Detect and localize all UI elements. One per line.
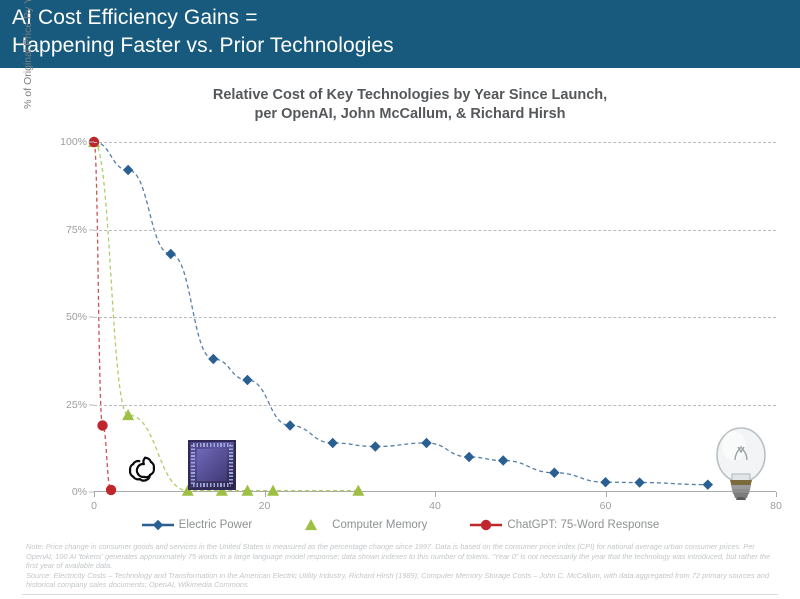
data-point-marker bbox=[549, 468, 559, 478]
legend-marker-circle-icon bbox=[469, 518, 503, 532]
gridline bbox=[94, 230, 776, 231]
data-point-marker bbox=[352, 485, 364, 496]
legend-marker-triangle-icon bbox=[294, 518, 328, 532]
data-point-marker bbox=[481, 520, 491, 530]
data-point-marker bbox=[328, 438, 338, 448]
data-point-marker bbox=[267, 485, 279, 496]
chart-legend: Electric PowerComputer MemoryChatGPT: 75… bbox=[0, 518, 800, 532]
x-axis-tick-mark bbox=[435, 492, 436, 497]
light-bulb-image bbox=[708, 424, 774, 500]
computer-memory-chip-image bbox=[188, 440, 236, 490]
legend-item[interactable]: Computer Memory bbox=[294, 518, 427, 532]
x-axis-tick-mark bbox=[265, 492, 266, 497]
chip-die bbox=[197, 449, 227, 481]
data-point-marker bbox=[634, 477, 644, 487]
data-point-marker bbox=[208, 354, 218, 364]
y-axis-tick-label: 50% bbox=[48, 311, 94, 323]
legend-marker-diamond-icon bbox=[141, 518, 175, 532]
x-axis-tick-mark bbox=[94, 492, 95, 497]
y-axis-tick-label: 0% bbox=[48, 486, 94, 498]
x-axis-tick-label: 40 bbox=[429, 500, 441, 512]
data-point-marker bbox=[305, 519, 317, 530]
slide-root: AI Cost Efficiency Gains = Happening Fas… bbox=[0, 0, 800, 599]
data-point-marker bbox=[370, 441, 380, 451]
x-axis-tick-label: 0 bbox=[91, 500, 97, 512]
data-point-marker bbox=[122, 409, 134, 420]
x-axis-tick-label: 80 bbox=[770, 500, 782, 512]
legend-label: ChatGPT: 75-Word Response bbox=[507, 519, 659, 531]
data-point-marker bbox=[464, 452, 474, 462]
openai-logo-icon bbox=[125, 452, 159, 486]
chart-title: Relative Cost of Key Technologies by Yea… bbox=[60, 86, 760, 124]
data-point-marker bbox=[285, 420, 295, 430]
y-axis-tick-mark bbox=[89, 404, 94, 405]
data-point-marker bbox=[242, 375, 252, 385]
x-axis-tick-mark bbox=[776, 492, 777, 497]
slide-title: AI Cost Efficiency Gains = Happening Fas… bbox=[12, 4, 394, 60]
data-point-marker bbox=[97, 420, 107, 430]
series-line bbox=[94, 142, 708, 485]
chip-pins-right bbox=[229, 445, 233, 485]
legend-item[interactable]: ChatGPT: 75-Word Response bbox=[469, 518, 659, 532]
data-point-marker bbox=[123, 165, 133, 175]
series-electric-power bbox=[89, 137, 713, 490]
x-axis-tick-label: 20 bbox=[259, 500, 271, 512]
y-axis-tick-label: 75% bbox=[48, 224, 94, 236]
data-point-marker bbox=[152, 520, 162, 530]
y-axis-title: % of Original Price By Year (Indexed to … bbox=[22, 0, 34, 160]
gridline bbox=[94, 317, 776, 318]
y-axis-tick-mark bbox=[89, 142, 94, 143]
footnote-text: Note: Price change in consumer goods and… bbox=[26, 542, 778, 590]
chip-pins-top bbox=[193, 443, 231, 447]
legend-item[interactable]: Electric Power bbox=[141, 518, 253, 532]
x-axis-tick-mark bbox=[606, 492, 607, 497]
legend-label: Electric Power bbox=[179, 519, 253, 531]
series-line bbox=[94, 142, 111, 490]
chip-pins-left bbox=[191, 445, 195, 485]
x-axis-tick-label: 60 bbox=[600, 500, 612, 512]
slide-header-band: AI Cost Efficiency Gains = Happening Fas… bbox=[0, 0, 800, 68]
chip-pins-bottom bbox=[193, 483, 231, 487]
gridline bbox=[94, 142, 776, 143]
data-point-marker bbox=[106, 485, 116, 495]
data-point-marker bbox=[166, 249, 176, 259]
gridline bbox=[94, 405, 776, 406]
data-point-marker bbox=[600, 477, 610, 487]
footnote-divider bbox=[22, 594, 778, 595]
y-axis-tick-label: 25% bbox=[48, 399, 94, 411]
data-point-marker bbox=[498, 455, 508, 465]
y-axis-tick-mark bbox=[89, 317, 94, 318]
y-axis-tick-mark bbox=[89, 229, 94, 230]
legend-label: Computer Memory bbox=[332, 519, 427, 531]
y-axis-tick-label: 100% bbox=[48, 136, 94, 148]
data-point-marker bbox=[421, 438, 431, 448]
